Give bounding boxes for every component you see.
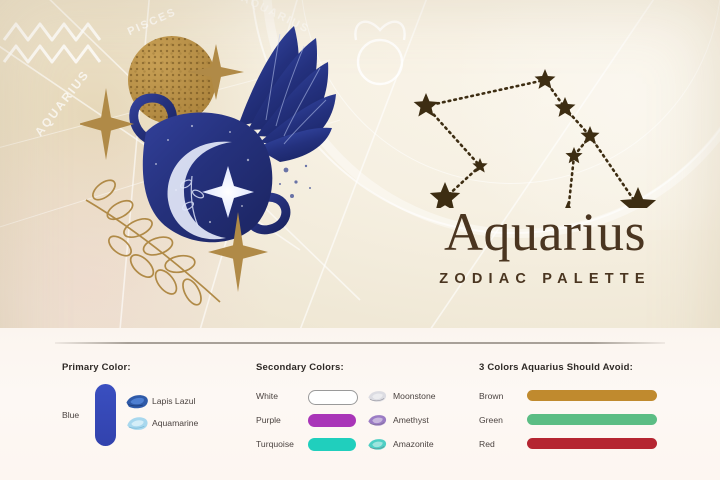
secondary-color-row: PurpleAmethyst <box>256 412 466 428</box>
amazonite-gem-icon <box>366 436 388 452</box>
primary-color-swatch <box>95 384 116 446</box>
avoid-color-row: Red <box>479 436 679 454</box>
secondary-color-swatch <box>308 438 356 451</box>
primary-color-label: Blue <box>62 410 79 420</box>
secondary-colors-header: Secondary Colors: <box>256 362 344 373</box>
avoid-color-label: Brown <box>479 391 503 401</box>
divider <box>55 342 665 344</box>
secondary-colors-section: Secondary Colors: WhiteMoonstonePurpleAm… <box>256 362 466 462</box>
primary-color-header: Primary Color: <box>62 362 131 373</box>
avoid-colors-section: 3 Colors Aquarius Should Avoid: BrownGre… <box>479 362 679 462</box>
avoid-colors-header: 3 Colors Aquarius Should Avoid: <box>479 362 633 373</box>
avoid-color-label: Red <box>479 439 495 449</box>
primary-gem-label-lapis: Lapis Lazul <box>152 396 195 406</box>
primary-color-section: Primary Color: Blue Lapis Lazul Aquamari… <box>62 362 252 462</box>
secondary-color-swatch <box>308 390 358 405</box>
constellation-line <box>426 106 480 166</box>
avoid-color-swatch <box>527 390 657 401</box>
secondary-stone-label: Amethyst <box>393 415 429 425</box>
avoid-color-swatch <box>527 438 657 449</box>
constellation-line <box>426 80 545 106</box>
moonstone-gem-icon <box>366 388 388 404</box>
aquarius-urn-illustration <box>80 14 340 314</box>
avoid-color-row: Brown <box>479 388 679 406</box>
avoid-color-row: Green <box>479 412 679 430</box>
avoid-color-swatch <box>527 414 657 425</box>
avoid-color-label: Green <box>479 415 503 425</box>
amethyst-gem-icon <box>366 412 388 428</box>
secondary-color-label: Purple <box>256 415 281 425</box>
palette-panel: Primary Color: Blue Lapis Lazul Aquamari… <box>0 328 720 480</box>
secondary-color-label: Turquoise <box>256 439 294 449</box>
ink-splatter <box>279 165 311 198</box>
constellation-star-3 <box>580 126 599 144</box>
secondary-color-row: TurquoiseAmazonite <box>256 436 466 452</box>
constellation-line <box>568 156 574 208</box>
constellation-star-1 <box>535 69 556 89</box>
page-title: Aquarius <box>400 205 690 259</box>
secondary-stone-label: Amazonite <box>393 439 434 449</box>
secondary-color-swatch <box>308 414 356 427</box>
aquarius-constellation <box>390 28 690 208</box>
page-subtitle: ZODIAC PALETTE <box>400 271 690 287</box>
secondary-color-label: White <box>256 391 278 401</box>
primary-gem-label-aquamarine: Aquamarine <box>152 418 198 428</box>
secondary-color-row: WhiteMoonstone <box>256 388 466 404</box>
aquamarine-gem-icon <box>124 414 150 432</box>
lapis-lazuli-gem-icon <box>124 392 150 410</box>
constellation-star-0 <box>414 93 439 117</box>
secondary-stone-label: Moonstone <box>393 391 436 401</box>
zodiac-palette-card: AQUARIUS PISCES AQUARIUS <box>0 0 720 480</box>
urn-body-icon <box>143 113 273 243</box>
constellation-line <box>590 136 638 206</box>
title-block: Aquarius ZODIAC PALETTE <box>400 205 690 287</box>
